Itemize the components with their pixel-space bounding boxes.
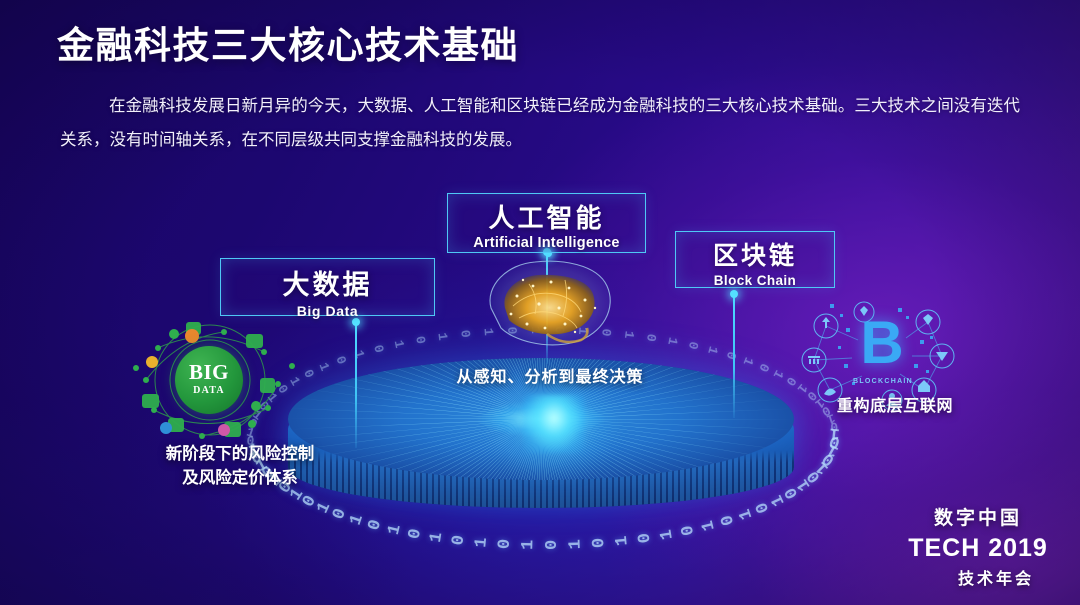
page-title: 金融科技三大核心技术基础 <box>57 15 519 69</box>
label-big-data-cn: 大数据 <box>221 263 434 302</box>
disc-core <box>523 395 585 453</box>
label-big-data-en: Big Data <box>221 303 434 319</box>
label-block-chain-cn: 区块链 <box>676 236 834 272</box>
caption-big-data-line1: 新阶段下的风险控制 <box>105 442 375 466</box>
logo-tech-text: TECH 2019 <box>908 534 1048 562</box>
slide-canvas: 金融科技三大核心技术基础 在金融科技发展日新月异的今天，大数据、人工智能和区块链… <box>0 0 1080 605</box>
caption-block-chain: 重构底层互联网 <box>790 392 1000 416</box>
caption-artificial-intelligence: 从感知、分析到最终决策 <box>400 363 700 387</box>
connector-block-chain <box>733 294 735 418</box>
event-logo: 数字中国 TECH 2019 技术年会 <box>902 503 1054 589</box>
label-block-chain-en: Block Chain <box>676 273 834 288</box>
logo-line-2: TECH 2019 <box>902 534 1054 563</box>
intro-paragraph: 在金融科技发展日新月异的今天，大数据、人工智能和区块链已经成为金融科技的三大核心… <box>60 90 1020 158</box>
big-data-badge: BIG DATA <box>175 346 243 414</box>
big-data-icon-cluster: BIG DATA <box>128 318 306 444</box>
label-ai-en: Artificial Intelligence <box>448 235 645 251</box>
brain-illustration <box>477 256 619 352</box>
label-box-artificial-intelligence[interactable]: 人工智能 Artificial Intelligence <box>447 193 646 253</box>
big-data-badge-primary: BIG <box>189 362 229 383</box>
logo-line-1: 数字中国 <box>902 503 1054 530</box>
label-box-big-data[interactable]: 大数据 Big Data <box>220 258 435 316</box>
label-box-block-chain[interactable]: 区块链 Block Chain <box>675 231 835 288</box>
label-ai-cn: 人工智能 <box>448 198 645 235</box>
big-data-badge-secondary: DATA <box>193 383 225 398</box>
blockchain-badge-secondary: BLOCKCHAIN <box>846 378 920 385</box>
connector-big-data <box>355 322 357 448</box>
caption-big-data: 新阶段下的风险控制 及风险定价体系 <box>105 442 375 491</box>
blockchain-badge-primary: B <box>854 312 910 378</box>
logo-line-3: 技术年会 <box>902 565 1054 589</box>
caption-big-data-line2: 及风险定价体系 <box>105 466 375 490</box>
